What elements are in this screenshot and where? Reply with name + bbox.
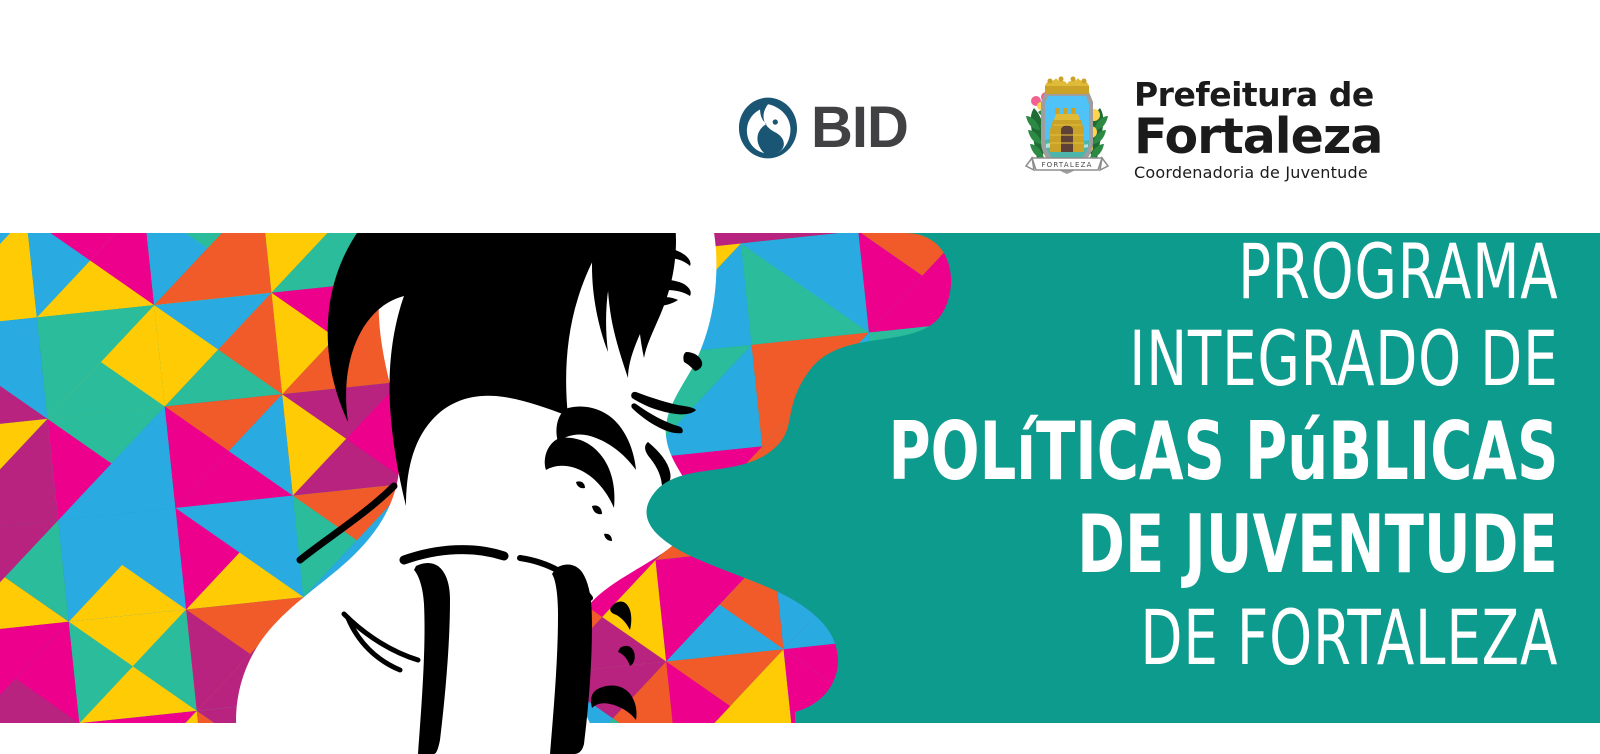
bid-globe-icon xyxy=(735,95,801,161)
headline-line-3: POLíTICAS PúBLICAS xyxy=(888,414,1558,491)
logo-bar: BID xyxy=(0,0,1600,233)
prefeitura-line-2: Fortaleza xyxy=(1134,112,1382,161)
svg-text:FORTALEZA: FORTALEZA xyxy=(1041,161,1092,169)
prefeitura-de-fortaleza-logo: FORTALEZA Prefeitura de Fortaleza Coorde… xyxy=(1012,68,1382,186)
headline-line-4: DE JUVENTUDE xyxy=(1077,507,1558,584)
headline-line-5: DE FORTALEZA xyxy=(1140,602,1558,675)
program-banner: BID xyxy=(0,0,1600,754)
headline-line-1: PROGRAMA xyxy=(1238,236,1558,309)
prefeitura-line-3: Coordenadoria de Juventude xyxy=(1134,165,1382,181)
prefeitura-wordmark: Prefeitura de Fortaleza Coordenadoria de… xyxy=(1134,74,1382,181)
prefeitura-line-1: Prefeitura de xyxy=(1134,78,1382,111)
headline-line-2: INTEGRADO DE xyxy=(1129,323,1558,396)
bid-wordmark: BID xyxy=(811,99,908,157)
program-headline: PROGRAMA INTEGRADO DE POLíTICAS PúBLICAS… xyxy=(838,236,1558,674)
bid-logo: BID xyxy=(735,95,908,161)
fortaleza-coat-of-arms-icon: FORTALEZA xyxy=(1012,68,1122,186)
